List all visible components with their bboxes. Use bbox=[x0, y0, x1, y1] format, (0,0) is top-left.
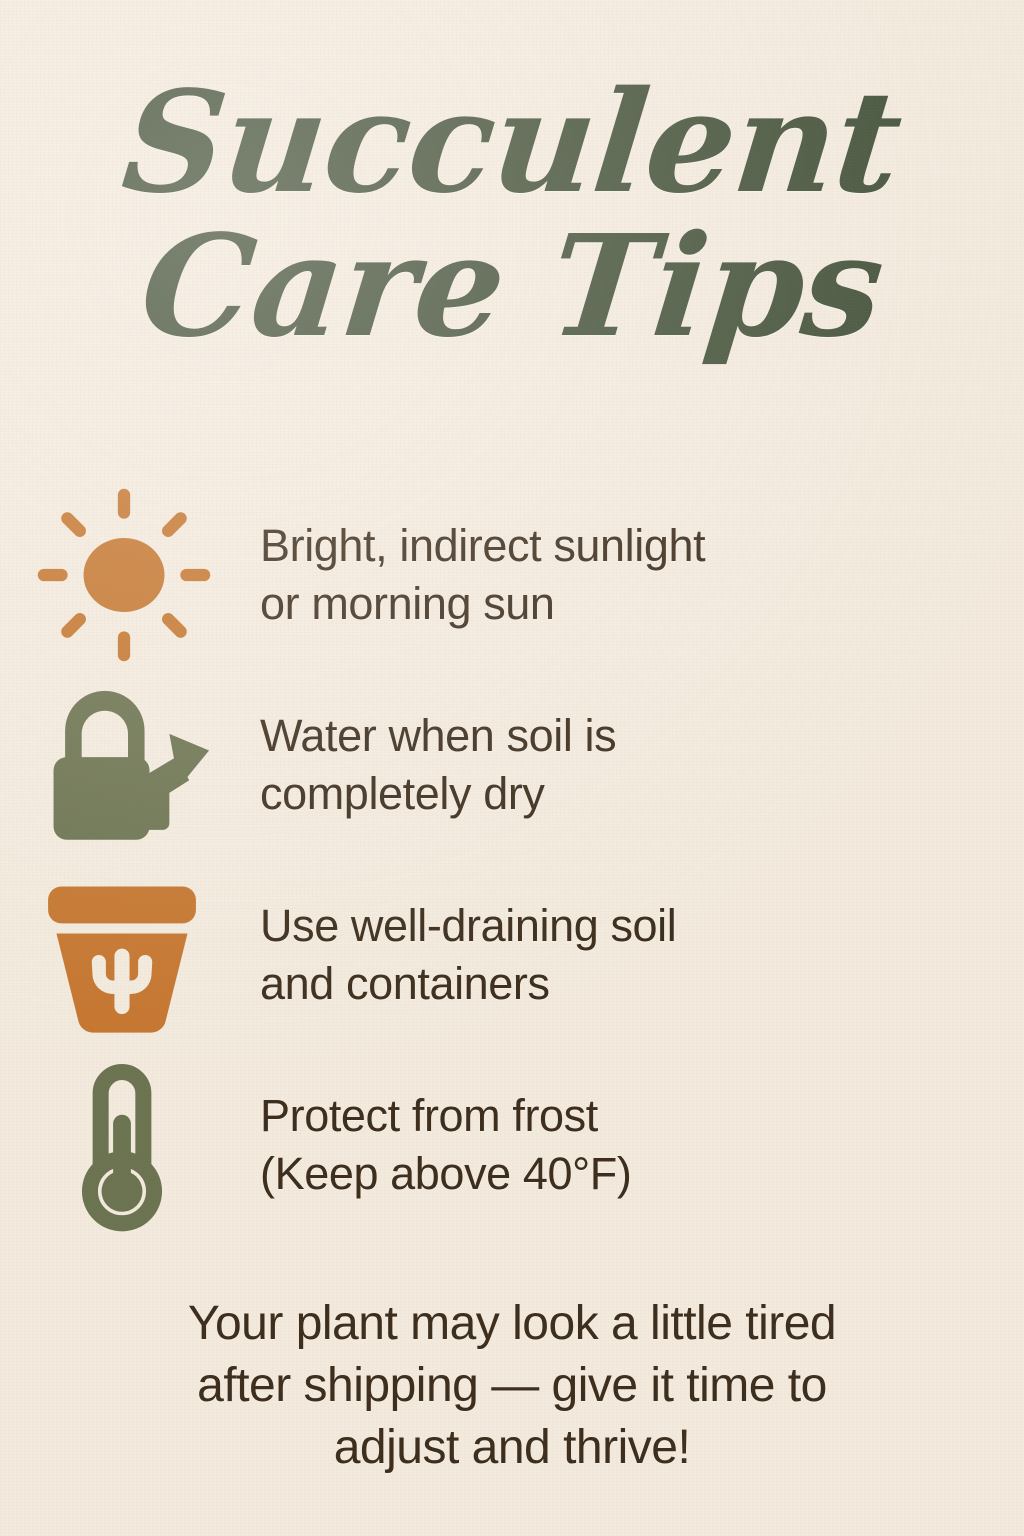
tip-line-1: Bright, indirect sunlight bbox=[260, 517, 1024, 575]
tip-row-sunlight: Bright, indirect sunlight or morning sun bbox=[0, 480, 1024, 670]
tip-line-2: completely dry bbox=[260, 765, 1024, 823]
care-tips-list: Bright, indirect sunlight or morning sun bbox=[0, 480, 1024, 1240]
tip-text-soil: Use well-draining soil and containers bbox=[260, 897, 1024, 1013]
tip-line-2: and containers bbox=[260, 955, 1024, 1013]
tip-line-1: Water when soil is bbox=[260, 707, 1024, 765]
footer-line-1: Your plant may look a little tired bbox=[0, 1293, 1024, 1355]
thermometer-icon bbox=[0, 1050, 252, 1240]
title-line-2: Care Tips bbox=[0, 212, 1024, 362]
watering-can-icon bbox=[0, 672, 258, 862]
tip-line-1: Use well-draining soil bbox=[260, 897, 1024, 955]
page-title: Succulent Care Tips bbox=[0, 68, 1024, 362]
tip-text-watering: Water when soil is completely dry bbox=[260, 707, 1024, 823]
tip-row-frost: Protect from frost (Keep above 40°F) bbox=[0, 1050, 1024, 1240]
tip-row-watering: Water when soil is completely dry bbox=[0, 670, 1024, 860]
tip-line-2: or morning sun bbox=[260, 575, 1024, 633]
tip-text-sunlight: Bright, indirect sunlight or morning sun bbox=[260, 517, 1024, 633]
tip-text-frost: Protect from frost (Keep above 40°F) bbox=[260, 1087, 1024, 1203]
footer-note: Your plant may look a little tired after… bbox=[0, 1293, 1024, 1479]
tip-line-1: Protect from frost bbox=[260, 1087, 1024, 1145]
footer-line-3: adjust and thrive! bbox=[0, 1417, 1024, 1479]
title-line-1: Succulent bbox=[0, 68, 1024, 218]
tip-line-2: (Keep above 40°F) bbox=[260, 1145, 1024, 1203]
footer-line-2: after shipping — give it time to bbox=[0, 1355, 1024, 1417]
tip-row-soil: Use well-draining soil and containers bbox=[0, 860, 1024, 1050]
plant-pot-icon bbox=[0, 862, 252, 1052]
sun-icon bbox=[0, 480, 254, 670]
succulent-care-tips-poster: Succulent Care Tips bbox=[0, 0, 1024, 1536]
